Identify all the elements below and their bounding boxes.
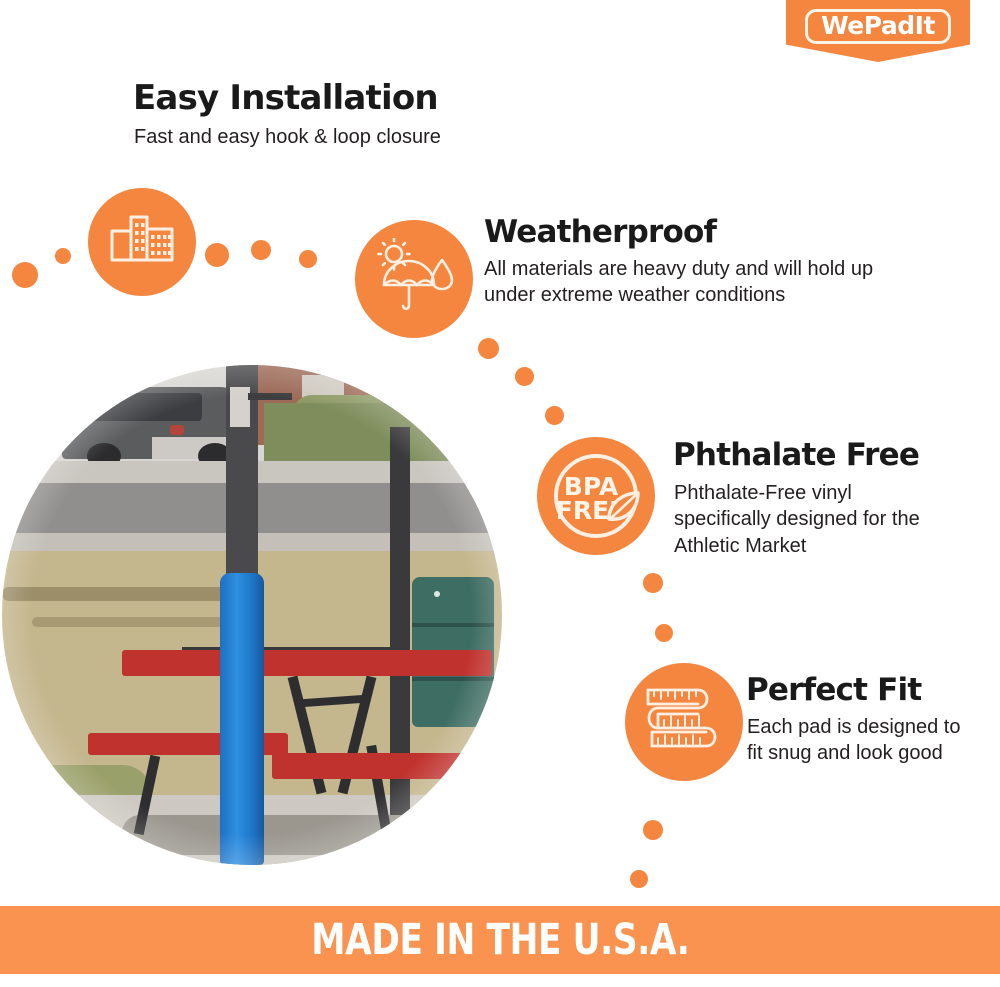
bpa-free-icon-circle: BPA FREE xyxy=(537,437,655,555)
feature-title-phthalate-free: Phthalate Free xyxy=(673,437,919,473)
feature-title-perfect-fit: Perfect Fit xyxy=(746,672,921,708)
feature-title-weatherproof: Weatherproof xyxy=(484,214,716,250)
made-in-usa-banner: MADE IN THE U.S.A. xyxy=(0,906,1000,974)
feature-body-weatherproof: All materials are heavy duty and will ho… xyxy=(484,256,904,309)
path-dot xyxy=(545,406,564,425)
path-dot xyxy=(205,243,229,267)
path-dot xyxy=(630,870,648,888)
building-icon xyxy=(109,213,175,271)
path-dot xyxy=(299,250,317,268)
feature-body-phthalate-free: Phthalate-Free vinyl specifically design… xyxy=(674,480,940,559)
product-photo xyxy=(2,365,502,865)
feature-title-easy-installation: Easy Installation xyxy=(133,78,438,118)
path-dot xyxy=(515,367,534,386)
path-dot xyxy=(55,248,71,264)
perfect-fit-icon-circle xyxy=(625,663,743,781)
path-dot xyxy=(12,262,38,288)
logo-outline: WePadIt xyxy=(805,9,951,44)
logo-text: WePadIt xyxy=(821,11,935,40)
path-dot xyxy=(643,573,663,593)
weatherproof-icon-circle xyxy=(355,220,473,338)
feature-body-easy-installation: Fast and easy hook & loop closure xyxy=(134,124,554,150)
path-dot xyxy=(643,820,663,840)
brand-logo: WePadIt xyxy=(786,0,970,62)
measuring-tape-icon xyxy=(636,674,732,770)
feature-body-perfect-fit: Each pad is designed to fit snug and loo… xyxy=(747,714,979,767)
sun-umbrella-raindrop-icon xyxy=(371,238,457,320)
path-dot xyxy=(478,338,499,359)
path-dot xyxy=(655,624,673,642)
building-icon-circle xyxy=(88,188,196,296)
path-dot xyxy=(251,240,271,260)
bpa-free-leaf-icon: BPA FREE xyxy=(541,441,651,551)
banner-text: MADE IN THE U.S.A. xyxy=(311,915,689,965)
product-feature-infographic: WePadIt Easy Installation Fast and easy … xyxy=(0,0,1000,987)
